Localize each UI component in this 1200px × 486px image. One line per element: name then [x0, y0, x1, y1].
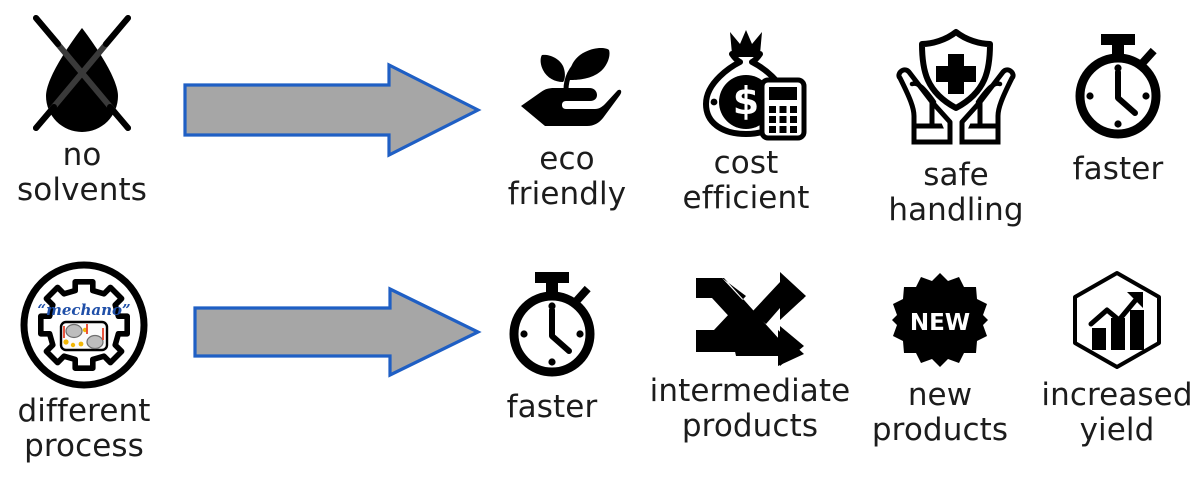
- item-label: new products: [872, 378, 1008, 447]
- svg-text:$: $: [733, 79, 759, 123]
- stopwatch-icon: [497, 268, 607, 378]
- shield-cross-hands-icon: [888, 26, 1024, 150]
- process-arrow-row1: [182, 62, 482, 158]
- shuffle-arrows-icon: [692, 272, 808, 366]
- item-increased-yield: increased yield: [1034, 270, 1200, 447]
- item-cost-efficient: $ cost efficient: [666, 28, 826, 215]
- item-safe-handling: safe handling: [868, 26, 1044, 227]
- item-label: faster: [507, 390, 598, 425]
- item-label: cost efficient: [683, 146, 810, 215]
- item-label: increased yield: [1041, 378, 1192, 447]
- crossed-water-droplet-icon: [22, 12, 142, 134]
- svg-text:“mechano”: “mechano”: [37, 301, 130, 319]
- item-label: different process: [17, 394, 150, 463]
- item-label: no solvents: [17, 138, 147, 207]
- item-faster-row2: faster: [486, 268, 618, 425]
- money-bag-calculator-icon: $: [686, 28, 806, 140]
- new-badge-text: NEW: [910, 310, 970, 336]
- new-burst-badge-icon: NEW: [892, 272, 988, 368]
- item-faster-row1: faster: [1052, 30, 1184, 187]
- process-arrow-row2: [192, 286, 482, 378]
- item-label: faster: [1073, 152, 1164, 187]
- item-new-products: NEW new products: [862, 272, 1018, 447]
- item-intermediate-products: intermediate products: [640, 272, 860, 443]
- infographic-canvas: no solvents eco friendly $: [0, 0, 1200, 486]
- item-label: eco friendly: [508, 142, 626, 211]
- hexagon-growth-chart-icon: [1069, 270, 1165, 370]
- item-no-solvents: no solvents: [6, 12, 158, 207]
- mechano-gear-mill-icon: “mechano”: [19, 260, 149, 390]
- item-different-process: “mechano” different process: [8, 260, 160, 463]
- hand-holding-sprout-icon: [511, 34, 623, 132]
- item-eco-friendly: eco friendly: [492, 34, 642, 211]
- stopwatch-icon: [1063, 30, 1173, 140]
- item-label: intermediate products: [650, 374, 851, 443]
- item-label: safe handling: [888, 158, 1023, 227]
